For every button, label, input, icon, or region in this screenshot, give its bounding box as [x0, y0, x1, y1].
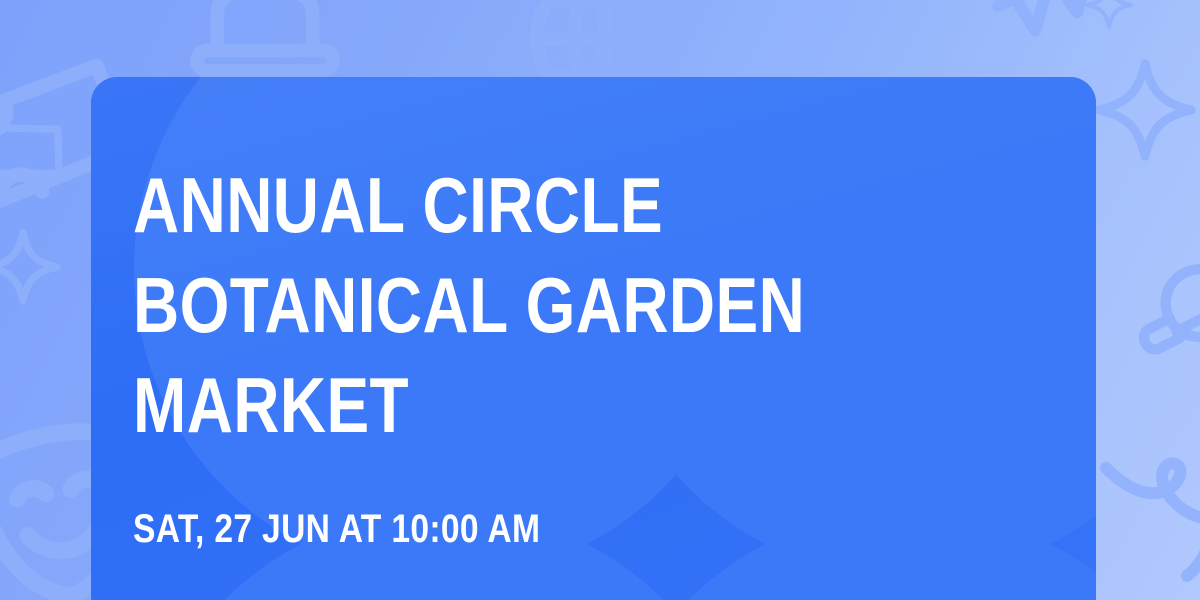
event-banner: Annual Circle Botanical Garden Market Sa… [0, 0, 1200, 600]
sparkle-icon [0, 222, 68, 312]
event-card-content: Annual Circle Botanical Garden Market Sa… [133, 155, 1036, 551]
streamer-icon [1098, 432, 1200, 582]
event-datetime: Sat, 27 Jun at 10:00 AM [133, 507, 892, 551]
sparkle-icon [1082, 0, 1136, 32]
sparkle-icon [1090, 55, 1200, 165]
event-title: Annual Circle Botanical Garden Market [133, 155, 873, 455]
event-card[interactable]: Annual Circle Botanical Garden Market Sa… [91, 77, 1096, 600]
microphone-icon [1102, 213, 1200, 434]
ticket-icon [0, 100, 86, 206]
